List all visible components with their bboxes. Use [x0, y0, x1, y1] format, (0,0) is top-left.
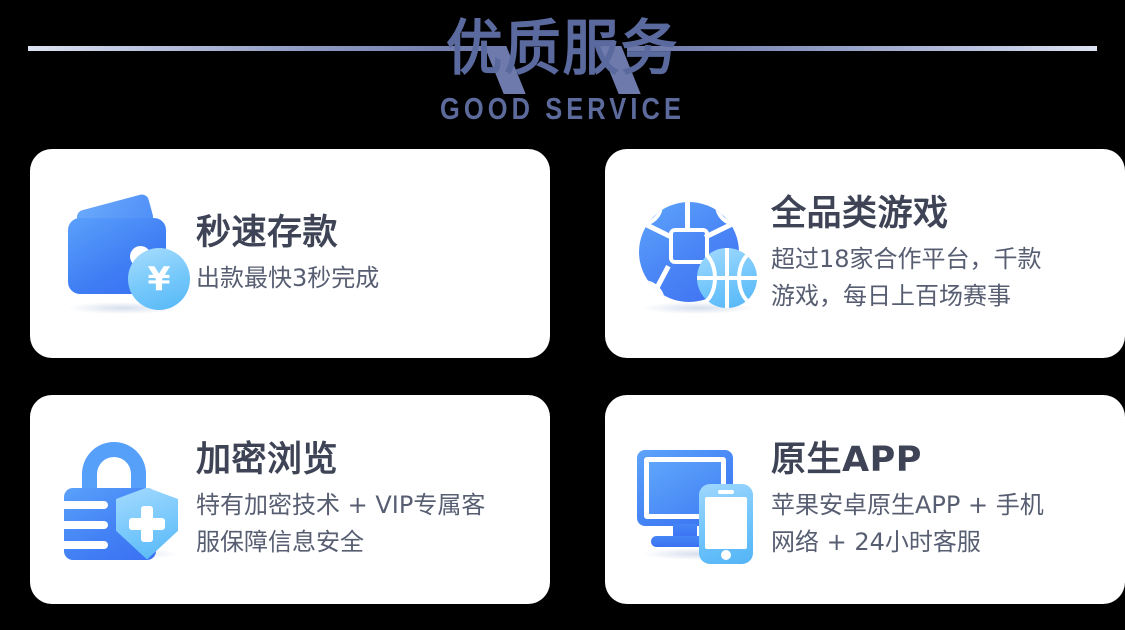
feature-card-grid: ¥ 秒速存款 出款最快3秒完成	[0, 149, 1125, 604]
card-subtitle-line: 苹果安卓原生APP + 手机	[771, 487, 1107, 524]
lock-slot	[64, 521, 108, 529]
card-text-block: 加密浏览 特有加密技术 + VIP专属客 服保障信息安全	[184, 438, 532, 561]
card-text-block: 全品类游戏 超过18家合作平台，千款 游戏，每日上百场赛事	[759, 192, 1107, 315]
soccer-basketball-icon	[631, 190, 759, 318]
card-subtitle-line: 游戏，每日上百场赛事	[771, 278, 1107, 315]
soccer-seam	[685, 202, 690, 228]
feature-card-native-app[interactable]: 原生APP 苹果安卓原生APP + 手机 网络 + 24小时客服	[605, 395, 1125, 604]
phone-speaker	[718, 490, 734, 494]
feature-card-encryption[interactable]: 加密浏览 特有加密技术 + VIP专属客 服保障信息安全	[30, 395, 550, 604]
feature-card-games[interactable]: 全品类游戏 超过18家合作平台，千款 游戏，每日上百场赛事	[605, 149, 1125, 358]
card-subtitle-line: 超过18家合作平台，千款	[771, 241, 1107, 278]
card-title: 全品类游戏	[771, 192, 1107, 236]
yen-coin-icon: ¥	[128, 248, 190, 310]
card-subtitle: 超过18家合作平台，千款 游戏，每日上百场赛事	[771, 241, 1107, 315]
lock-shield-icon	[56, 436, 184, 564]
basketball-seam	[737, 250, 757, 306]
feature-card-deposit[interactable]: ¥ 秒速存款 出款最快3秒完成	[30, 149, 550, 358]
cross-icon	[129, 518, 165, 530]
phone-home-button	[721, 550, 731, 560]
page-subtitle: GOOD SERVICE	[101, 92, 1024, 126]
card-subtitle: 出款最快3秒完成	[196, 260, 532, 297]
phone-screen	[705, 497, 747, 549]
header-title-block: 优质服务 GOOD SERVICE	[0, 0, 1125, 126]
card-subtitle-line: 服保障信息安全	[196, 524, 532, 561]
basketball-seam	[697, 250, 717, 306]
wallet-yen-icon: ¥	[56, 190, 184, 318]
card-subtitle: 特有加密技术 + VIP专属客 服保障信息安全	[196, 487, 532, 561]
soccer-edge-seam	[715, 202, 739, 226]
page-title: 优质服务	[34, 0, 1092, 92]
card-text-block: 秒速存款 出款最快3秒完成	[184, 211, 532, 297]
basketball-icon	[697, 248, 757, 308]
soccer-edge-seam	[639, 202, 663, 226]
page-header: 优质服务 GOOD SERVICE	[0, 0, 1125, 145]
card-subtitle-line: 网络 + 24小时客服	[771, 524, 1107, 561]
lock-slot	[64, 501, 108, 509]
card-subtitle-line: 特有加密技术 + VIP专属客	[196, 487, 532, 524]
monitor-phone-icon	[631, 436, 759, 564]
card-title: 秒速存款	[196, 211, 532, 255]
lock-slot	[64, 541, 108, 549]
phone-icon	[699, 484, 753, 564]
card-title: 加密浏览	[196, 438, 532, 482]
card-title: 原生APP	[771, 438, 1107, 482]
card-text-block: 原生APP 苹果安卓原生APP + 手机 网络 + 24小时客服	[759, 438, 1107, 561]
card-subtitle: 苹果安卓原生APP + 手机 网络 + 24小时客服	[771, 487, 1107, 561]
